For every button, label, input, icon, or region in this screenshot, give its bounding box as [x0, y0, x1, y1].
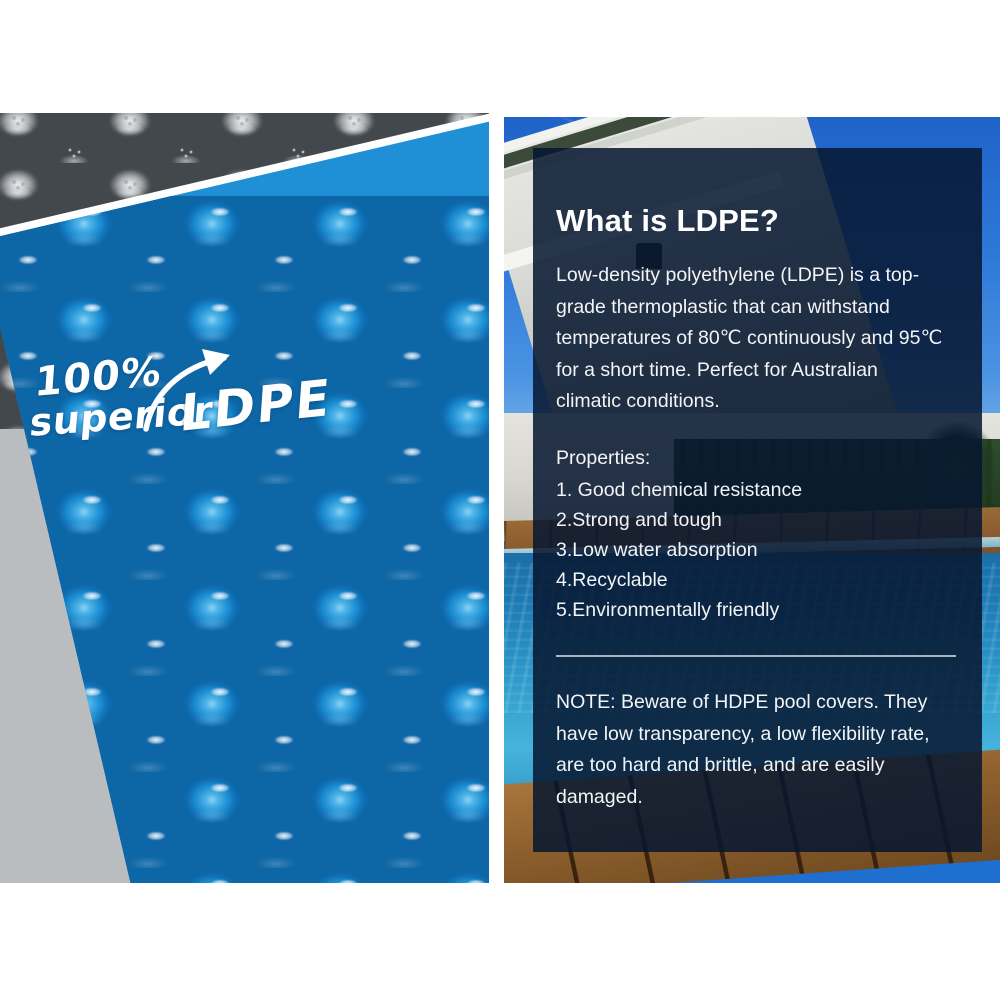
left-product-image-panel: 100% superior LDPE: [0, 113, 489, 883]
card-paragraph: Low-density polyethylene (LDPE) is a top…: [556, 238, 948, 418]
properties-heading: Properties:: [556, 418, 960, 473]
list-item: 4.Recyclable: [556, 565, 960, 595]
info-card: What is LDPE? Low-density polyethylene (…: [533, 148, 982, 852]
infographic-canvas: 100% superior LDPE What is LDPE?: [0, 0, 1000, 1000]
list-item: 5.Environmentally friendly: [556, 595, 960, 625]
list-item: 3.Low water absorption: [556, 535, 960, 565]
list-item: 1. Good chemical resistance: [556, 475, 960, 505]
note-paragraph: NOTE: Beware of HDPE pool covers. They h…: [556, 657, 956, 813]
info-card-content: What is LDPE? Low-density polyethylene (…: [556, 148, 960, 814]
blue-bubble-texture: [0, 196, 489, 883]
section-divider: [556, 655, 956, 657]
blue-bubble-cover-sheet: [0, 113, 489, 883]
properties-list: 1. Good chemical resistance 2.Strong and…: [556, 473, 960, 625]
right-info-panel: What is LDPE? Low-density polyethylene (…: [504, 117, 1000, 883]
list-item: 2.Strong and tough: [556, 505, 960, 535]
card-title: What is LDPE?: [556, 148, 960, 238]
